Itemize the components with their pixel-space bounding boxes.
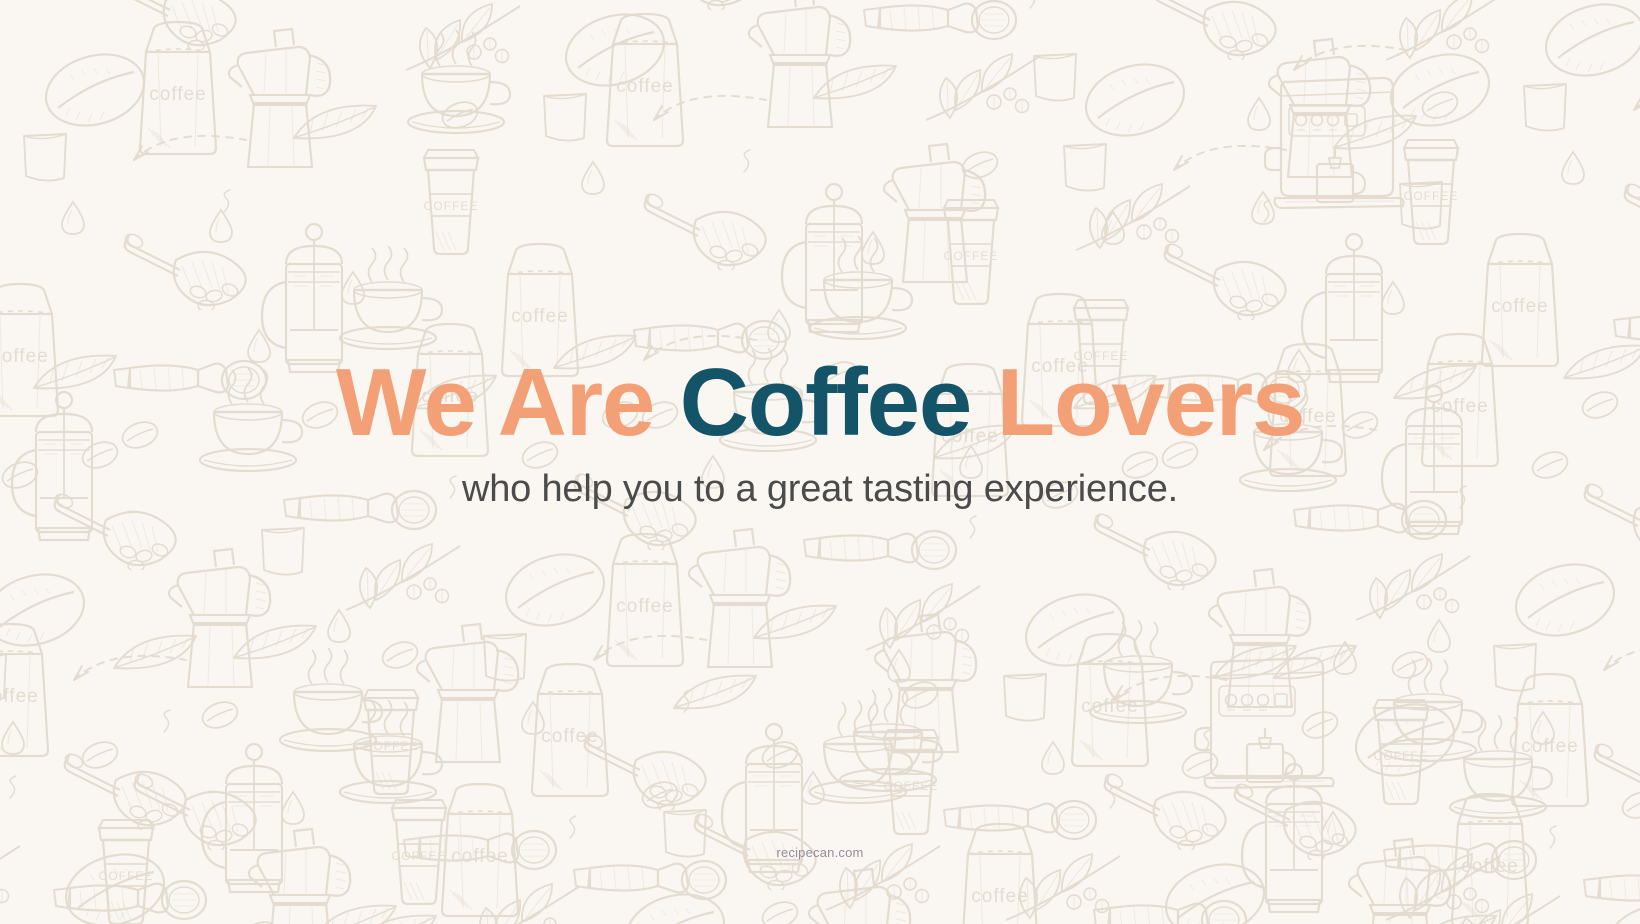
hero-content: We Are Coffee Lovers who help you to a g… — [0, 352, 1640, 511]
page-title: We Are Coffee Lovers — [0, 352, 1640, 454]
hero-banner: coffee — [0, 0, 1640, 924]
headline-segment-3: Lovers — [997, 349, 1305, 456]
page-subtitle: who help you to a great tasting experien… — [0, 468, 1640, 511]
headline-segment-2: Coffee — [680, 349, 997, 456]
site-watermark: recipecan.com — [0, 845, 1640, 860]
headline-segment-1: We Are — [336, 349, 680, 456]
